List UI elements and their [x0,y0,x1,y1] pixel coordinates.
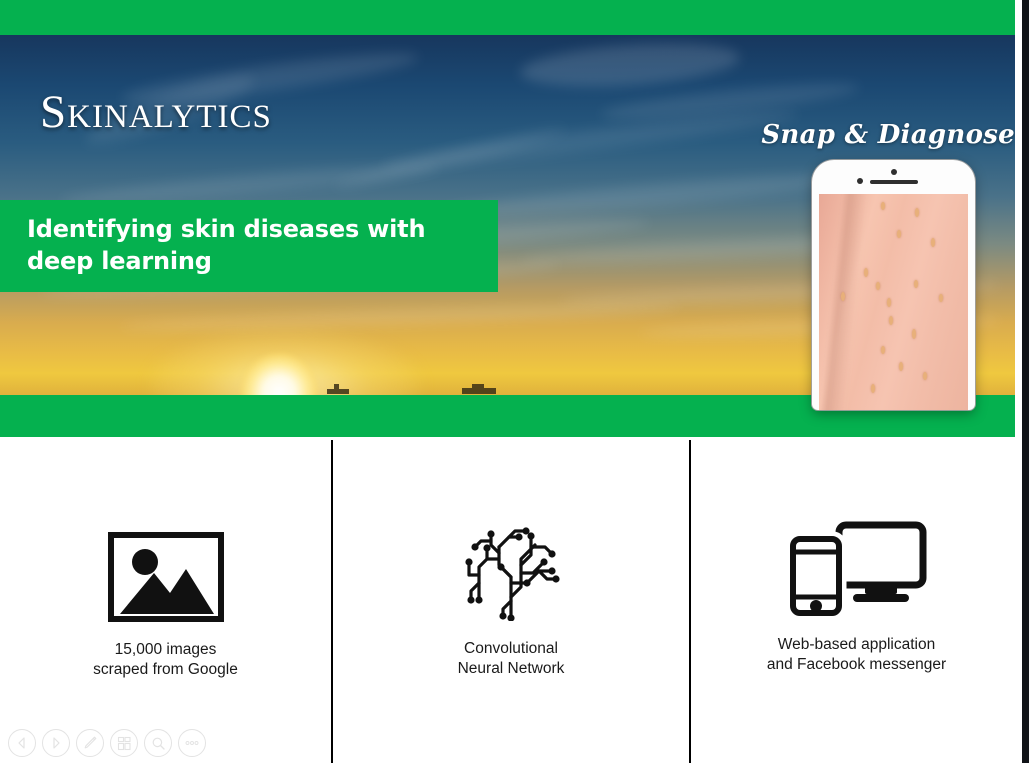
top-accent-band [0,0,1015,35]
skin-lesion [881,346,885,354]
horizon-silhouette [462,388,496,394]
skin-lesion [931,238,935,247]
skin-lesion [897,230,901,238]
page-title: Skinalytics [40,85,272,139]
phone-screen-skin-photo [819,194,968,410]
skin-lesion [871,384,875,393]
smartphone-mockup [812,160,975,410]
window-edge-gap [1015,0,1022,763]
feature-caption-line1: 15,000 images [0,640,331,660]
next-arrow-icon [50,737,62,749]
slide-grid-icon [117,736,132,751]
pen-icon [82,735,98,751]
feature-column-delivery: Web-based application and Facebook messe… [691,437,1022,676]
feature-column-model: Convolutional Neural Network [333,437,689,680]
horizon-silhouette [334,384,339,389]
feature-caption-line1: Convolutional [333,639,689,659]
skin-lesion [899,362,903,371]
proximity-sensor-icon [857,178,863,184]
all-slides-button[interactable] [110,729,138,757]
feature-caption-line1: Web-based application [691,635,1022,655]
feature-caption-line2: and Facebook messenger [691,655,1022,675]
more-options-button[interactable] [178,729,206,757]
skin-lesion [881,202,885,210]
earpiece-speaker [870,180,918,184]
skin-lesion [876,282,880,290]
skin-lesion [915,208,919,217]
ellipsis-icon [184,740,200,746]
skin-lesion [912,329,916,339]
neural-network-icon [457,513,565,621]
skin-crease [823,194,878,410]
front-camera-icon [891,169,897,175]
subtitle-callout-box: Identifying skin diseases with deep lear… [0,200,498,292]
skin-lesion [887,298,891,307]
feature-caption: 15,000 images scraped from Google [0,640,331,681]
horizon-silhouette [472,384,484,388]
skin-lesion [864,268,868,277]
feature-caption: Convolutional Neural Network [333,639,689,680]
feature-caption: Web-based application and Facebook messe… [691,635,1022,676]
image-icon [108,532,224,622]
previous-arrow-icon [16,737,28,749]
previous-slide-button[interactable] [8,729,36,757]
skin-lesion [923,372,927,380]
magnifier-icon [151,736,166,751]
presentation-slide: Skinalytics Identifying skin diseases wi… [0,0,1029,763]
feature-caption-line2: Neural Network [333,659,689,679]
horizon-silhouette [327,389,349,394]
skin-lesion [914,280,918,288]
feature-column-dataset: 15,000 images scraped from Google [0,437,331,681]
pen-tools-button[interactable] [76,729,104,757]
slide-subtitle: Identifying skin diseases with deep lear… [27,214,477,277]
feature-columns: 15,000 images scraped from Google [0,437,1022,763]
skin-lesion [841,292,845,301]
devices-icon [787,519,927,619]
tagline: Snap & Diagnose [761,120,1015,150]
zoom-button[interactable] [144,729,172,757]
feature-caption-line2: scraped from Google [0,660,331,680]
window-right-border [1022,0,1029,763]
presenter-toolbar [8,729,206,757]
next-slide-button[interactable] [42,729,70,757]
skin-lesion [889,316,893,325]
skin-lesion [939,294,943,302]
